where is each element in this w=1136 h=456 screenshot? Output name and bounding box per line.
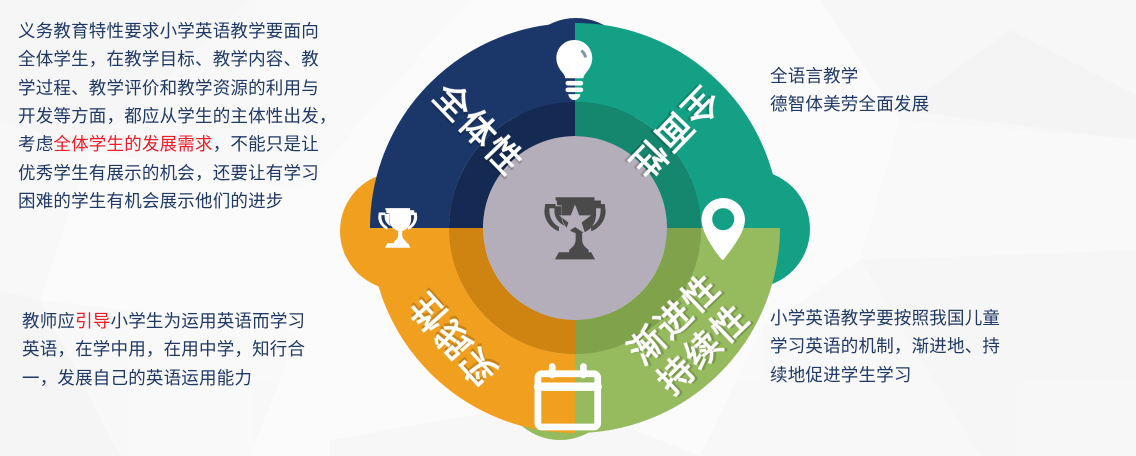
tab-teal: [660, 170, 810, 288]
note-text: 小学英语教学要按照我国儿童 学习英语的机制，渐进地、持 续地促进学生学习: [770, 309, 1000, 386]
map-pin-icon: [701, 198, 745, 260]
lightbulb-icon: [556, 40, 592, 100]
ring-segment-green: [410, 63, 741, 394]
ring-segment-navy: [410, 63, 741, 394]
segment-label-navy: 全体性: [424, 75, 531, 184]
highlighted-phrase: 引导: [75, 312, 110, 332]
segment-label-green-group: 渐进性 持续性: [622, 267, 759, 403]
segment-icon-tabs: [340, 18, 810, 440]
note-jianjinxing: 小学英语教学要按照我国儿童 学习英语的机制，渐进地、持 续地促进学生学习: [770, 305, 1126, 390]
center-circle: [483, 136, 667, 320]
ring-segment-orange: [410, 63, 741, 394]
trophy-star-icon: [544, 197, 605, 259]
note-quantixing: 义务教育特性要求小学英语教学要面向 全体学生，在教学目标、教学内容、教 学过程、…: [18, 18, 380, 216]
inner-segment-teal: [466, 119, 684, 337]
trophy-icon: [378, 208, 417, 248]
ring-segment-teal: [410, 63, 741, 394]
segment-label-orange: 实践性: [402, 283, 506, 392]
highlighted-phrase: 全体学生的发展需求: [53, 135, 212, 155]
outer-ring: [410, 63, 741, 394]
segment-label-green-line1: 渐进性: [622, 267, 730, 373]
tab-navy: [517, 18, 635, 168]
segment-label-teal: 全面性: [620, 77, 727, 186]
note-shijianxing: 教师应引导小学生为运用英语而学习 英语，在学中用，在用中学，知行合 一，发展自己…: [22, 308, 378, 393]
tab-green: [501, 290, 619, 440]
note-text: 教师应: [22, 312, 75, 332]
inner-segment-green: [466, 119, 684, 337]
note-quanmianxing: 全语言教学 德智体美劳全面发展: [770, 63, 1120, 120]
note-text: 全语言教学 德智体美劳全面发展: [770, 67, 929, 115]
segment-label-green-line2: 持续性: [651, 297, 759, 403]
inner-ring: [466, 119, 684, 337]
calendar-icon: [538, 367, 598, 427]
inner-segment-orange: [466, 119, 684, 337]
inner-segment-navy: [466, 119, 684, 337]
